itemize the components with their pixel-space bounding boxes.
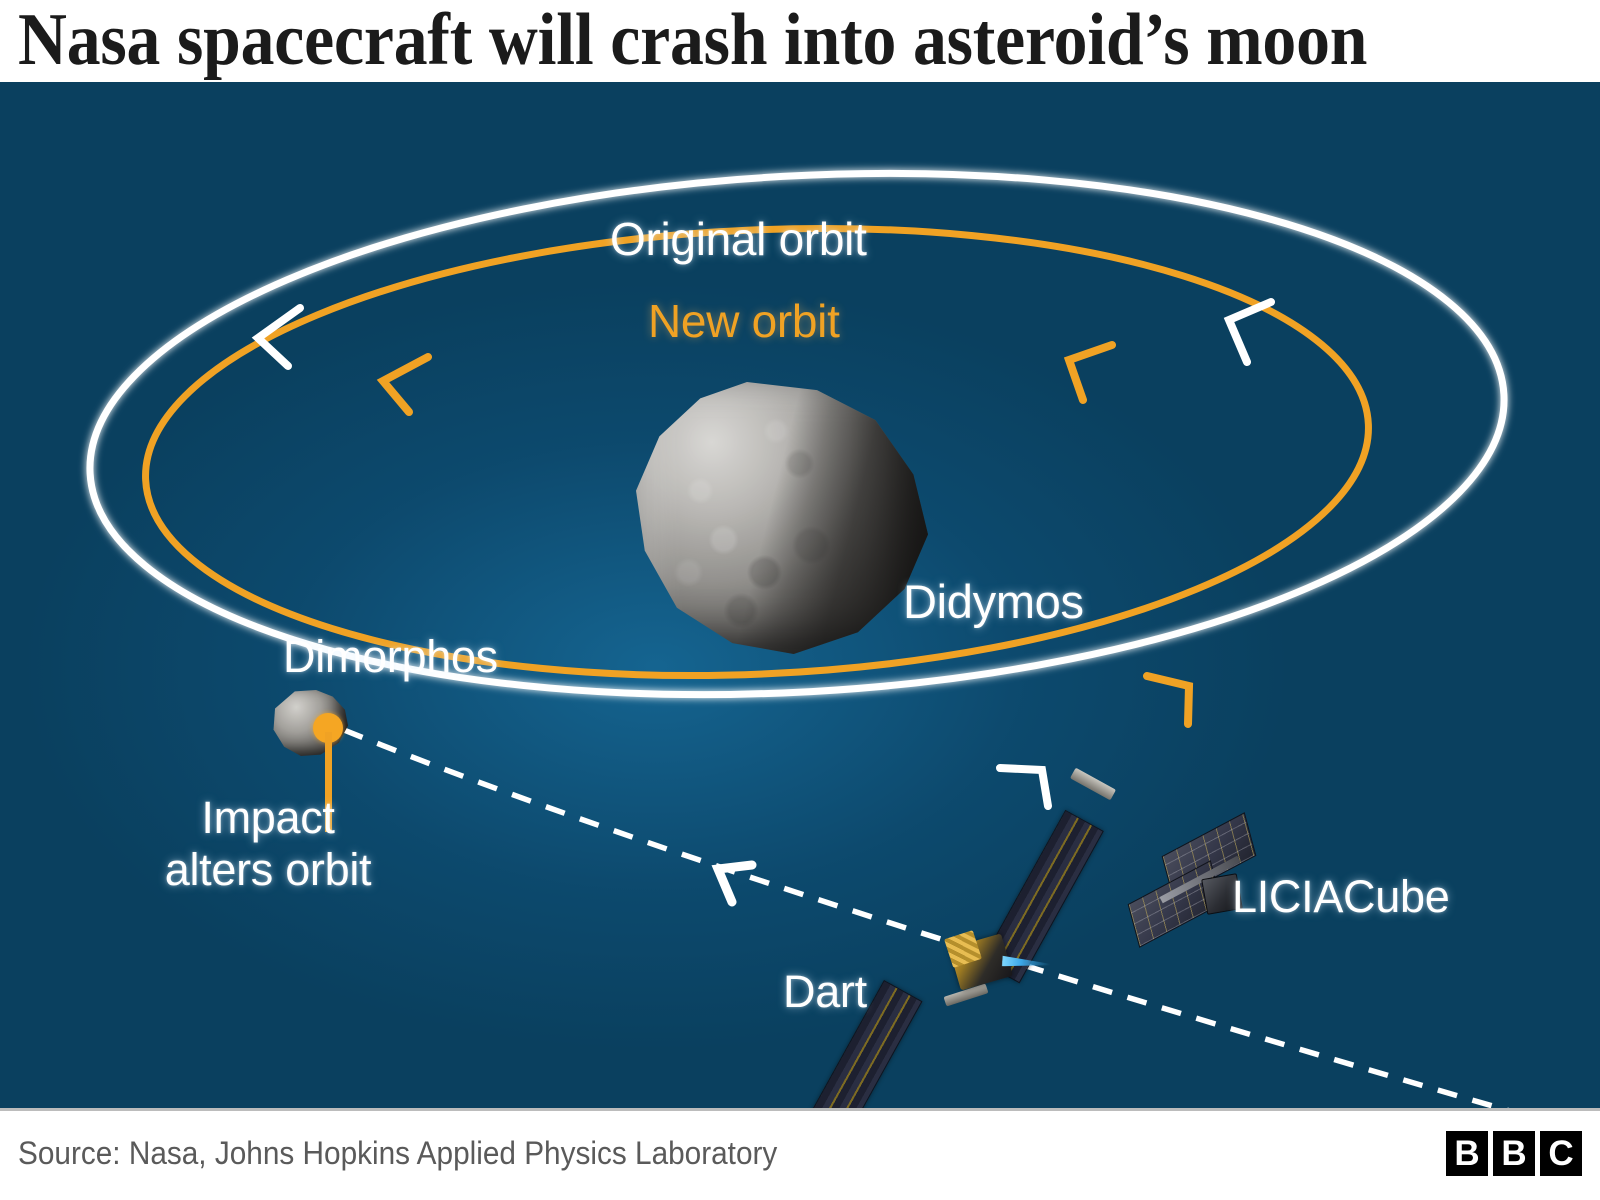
- dart-spacecraft: [826, 794, 1146, 1108]
- bbc-logo-letter-2: B: [1493, 1131, 1535, 1176]
- new-orbit-arrow-top-right: [1069, 345, 1112, 400]
- dart-trajectory-arrow: [718, 865, 752, 902]
- page-title: Nasa spacecraft will crash into asteroid…: [18, 0, 1367, 82]
- bbc-logo-letter-3: C: [1540, 1131, 1582, 1176]
- diagram-stage: Original orbit New orbit Didymos Dimorph…: [0, 82, 1600, 1108]
- label-impact-line-2: alters orbit: [152, 844, 384, 896]
- new-orbit-arrow-bottom-right: [1147, 676, 1189, 724]
- didymos-asteroid: [636, 382, 928, 654]
- header: Nasa spacecraft will crash into asteroid…: [0, 0, 1600, 82]
- new-orbit-arrow-top-left: [383, 357, 428, 412]
- label-didymos: Didymos: [903, 574, 1084, 629]
- label-new-orbit: New orbit: [648, 294, 840, 348]
- label-impact-line-1: Impact: [152, 792, 384, 844]
- label-liciacube: LICIACube: [1232, 871, 1449, 923]
- didymos-shadow: [636, 382, 928, 654]
- bbc-logo-letter-1: B: [1446, 1131, 1488, 1176]
- source-attribution: Source: Nasa, Johns Hopkins Applied Phys…: [18, 1135, 777, 1172]
- footer: Source: Nasa, Johns Hopkins Applied Phys…: [0, 1108, 1600, 1200]
- label-impact-alters-orbit: Impact alters orbit: [152, 792, 384, 896]
- infographic-page: Nasa spacecraft will crash into asteroid…: [0, 0, 1600, 1200]
- label-dimorphos: Dimorphos: [283, 631, 498, 683]
- label-dart: Dart: [783, 966, 867, 1018]
- bbc-logo: B B C: [1446, 1131, 1582, 1176]
- label-original-orbit: Original orbit: [610, 212, 867, 266]
- original-orbit-arrow-top-left: [258, 308, 300, 366]
